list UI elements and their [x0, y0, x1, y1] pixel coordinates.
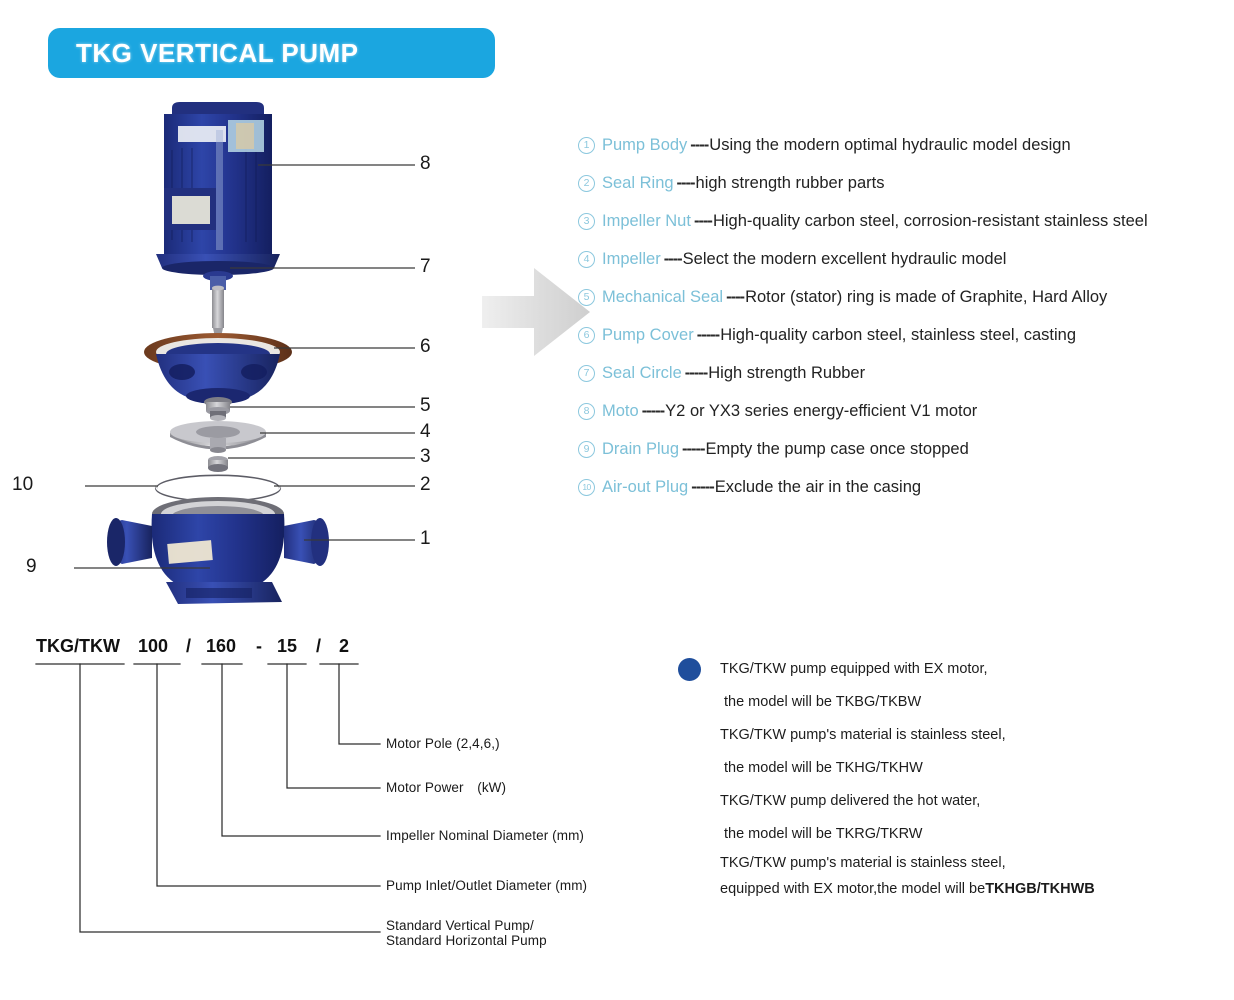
legend-item-1: 1 Pump Body ---- Using the modern optima… — [578, 126, 1228, 164]
legend-part-name: Mechanical Seal — [602, 288, 723, 307]
legend-part-desc: Empty the pump case once stopped — [706, 440, 969, 459]
leader-label-standard-pump-line2: Standard Horizontal Pump — [386, 933, 547, 948]
legend-item-5: 5 Mechanical Seal ---- Rotor (stator) ri… — [578, 278, 1228, 316]
legend-part-name: Drain Plug — [602, 440, 679, 459]
pump-exploded-diagram: 8 7 6 5 4 3 2 1 10 9 — [60, 90, 480, 610]
model-code-breakdown: TKG/TKW 100 / 160 - 15 / 2 Motor Pol — [28, 636, 628, 966]
callout-number-9: 9 — [26, 556, 37, 578]
leader-label-standard-pump: Standard Vertical Pump/ Standard Horizon… — [386, 918, 547, 948]
legend-dash: ---- — [664, 250, 682, 269]
legend-dash: ----- — [685, 364, 707, 383]
legend-item-4: 4 Impeller ---- Select the modern excell… — [578, 240, 1228, 278]
legend-item-3: 3 Impeller Nut ---- High-quality carbon … — [578, 202, 1228, 240]
legend-part-name: Moto — [602, 402, 639, 421]
callout-number-8: 8 — [420, 153, 431, 175]
part-mechanical-seal — [204, 397, 232, 421]
note-line: TKG/TKW pump equipped with EX motor, — [720, 652, 1218, 685]
callout-number-2: 2 — [420, 474, 431, 496]
legend-part-desc: High-quality carbon steel, corrosion-res… — [713, 212, 1148, 231]
note-line: TKG/TKW pump's material is stainless ste… — [720, 718, 1218, 751]
legend-dash: ---- — [694, 212, 712, 231]
model-leader-lines — [28, 636, 628, 966]
note-line-model: TKHGB/TKHWB — [985, 881, 1095, 897]
legend-dash: ----- — [682, 440, 704, 459]
part-shaft-seal-circle — [203, 271, 233, 342]
legend-part-desc: high strength rubber parts — [696, 174, 885, 193]
legend-number-icon: 1 — [578, 137, 595, 154]
note-line-emphasis: equipped with EX motor,the model will be… — [720, 876, 1218, 902]
legend-item-10: 10 Air-out Plug ----- Exclude the air in… — [578, 468, 1228, 506]
callout-number-3: 3 — [420, 446, 431, 468]
part-impeller-nut — [208, 456, 228, 472]
legend-dash: ----- — [697, 326, 719, 345]
part-impeller — [170, 421, 266, 453]
legend-part-name: Impeller Nut — [602, 212, 691, 231]
legend-part-desc: Select the modern excellent hydraulic mo… — [683, 250, 1007, 269]
legend-part-name: Air-out Plug — [602, 478, 688, 497]
part-pump-cover — [144, 333, 292, 404]
callout-number-4: 4 — [420, 421, 431, 443]
legend-dash: ---- — [726, 288, 744, 307]
callout-number-1: 1 — [420, 528, 431, 550]
legend-part-name: Seal Circle — [602, 364, 682, 383]
legend-item-6: 6 Pump Cover ----- High-quality carbon s… — [578, 316, 1228, 354]
legend-part-desc: Rotor (stator) ring is made of Graphite,… — [745, 288, 1107, 307]
callout-number-5: 5 — [420, 395, 431, 417]
legend-part-desc: High-quality carbon steel, stainless ste… — [720, 326, 1076, 345]
legend-number-icon: 3 — [578, 213, 595, 230]
note-line-prefix: equipped with EX motor,the model will be — [720, 881, 985, 897]
page-title: TKG VERTICAL PUMP — [76, 38, 358, 69]
note-line: the model will be TKHG/TKHW — [720, 751, 1218, 784]
legend-number-icon: 9 — [578, 441, 595, 458]
callout-number-6: 6 — [420, 336, 431, 358]
legend-number-icon: 7 — [578, 365, 595, 382]
legend-dash: ---- — [677, 174, 695, 193]
model-variant-notes: TKG/TKW pump equipped with EX motor, the… — [678, 652, 1218, 902]
part-seal-ring — [156, 474, 280, 501]
legend-part-name: Pump Body — [602, 136, 687, 155]
legend-number-icon: 4 — [578, 251, 595, 268]
part-motor — [156, 102, 280, 275]
note-line: the model will be TKBG/TKBW — [720, 685, 1218, 718]
leader-label-motor-pole: Motor Pole (2,4,6,) — [386, 736, 500, 751]
legend-item-2: 2 Seal Ring ---- high strength rubber pa… — [578, 164, 1228, 202]
note-line: TKG/TKW pump delivered the hot water, — [720, 784, 1218, 817]
legend-part-name: Seal Ring — [602, 174, 674, 193]
legend-part-desc: Using the modern optimal hydraulic model… — [709, 136, 1070, 155]
flow-arrow — [482, 258, 592, 366]
bullet-icon — [678, 658, 701, 681]
legend-number-icon: 2 — [578, 175, 595, 192]
leader-label-impeller-diameter: Impeller Nominal Diameter (mm) — [386, 828, 584, 843]
legend-part-name: Pump Cover — [602, 326, 694, 345]
legend-dash: ---- — [690, 136, 708, 155]
legend-item-8: 8 Moto ----- Y2 or YX3 series energy-eff… — [578, 392, 1228, 430]
note-line: the model will be TKRG/TKRW — [720, 817, 1218, 850]
note-line: TKG/TKW pump's material is stainless ste… — [720, 850, 1218, 876]
leader-label-standard-pump-line1: Standard Vertical Pump/ — [386, 918, 534, 933]
legend-dash: ----- — [642, 402, 664, 421]
legend-part-desc: Y2 or YX3 series energy-efficient V1 mot… — [665, 402, 977, 421]
page-title-banner: TKG VERTICAL PUMP — [48, 28, 495, 78]
leader-label-motor-power: Motor Power (kW) — [386, 780, 506, 795]
legend-number-icon: 6 — [578, 327, 595, 344]
leader-label-inlet-outlet-diameter: Pump Inlet/Outlet Diameter (mm) — [386, 878, 587, 893]
legend-item-7: 7 Seal Circle ----- High strength Rubber — [578, 354, 1228, 392]
legend-number-icon: 5 — [578, 289, 595, 306]
legend-number-icon: 8 — [578, 403, 595, 420]
legend-dash: ----- — [691, 478, 713, 497]
legend-part-name: Impeller — [602, 250, 661, 269]
legend-number-icon: 10 — [578, 479, 595, 496]
parts-legend: 1 Pump Body ---- Using the modern optima… — [578, 126, 1228, 506]
callout-number-10: 10 — [12, 474, 33, 496]
legend-part-desc: High strength Rubber — [708, 364, 865, 383]
legend-part-desc: Exclude the air in the casing — [715, 478, 921, 497]
callout-number-7: 7 — [420, 256, 431, 278]
legend-item-9: 9 Drain Plug ----- Empty the pump case o… — [578, 430, 1228, 468]
part-pump-body — [107, 497, 329, 604]
